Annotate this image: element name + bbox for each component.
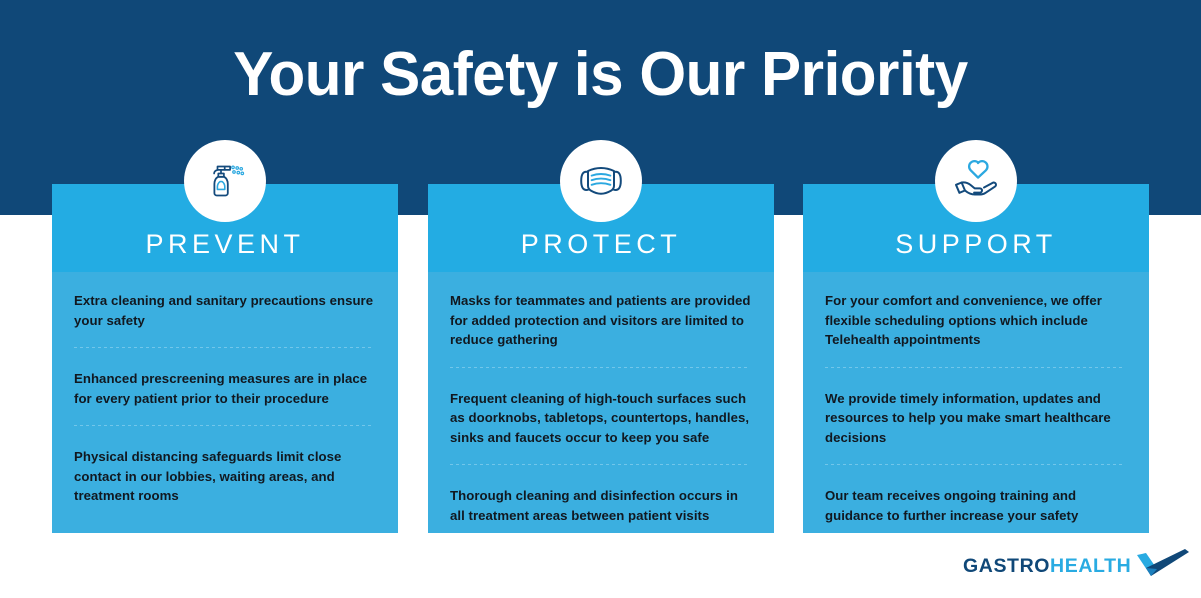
list-divider [450, 367, 750, 368]
hand-holding-heart-icon [951, 156, 1001, 206]
list-item: Physical distancing safeguards limit clo… [74, 442, 376, 506]
list-item: Thorough cleaning and disinfection occur… [450, 481, 752, 525]
list-item: Frequent cleaning of high-touch surfaces… [450, 384, 752, 448]
list-divider [450, 464, 750, 465]
info-card-protect: PROTECT Masks for teammates and patients… [428, 184, 774, 533]
list-item: We provide timely information, updates a… [825, 384, 1127, 448]
list-divider [74, 425, 374, 426]
logo-word-gastro: GASTRO [963, 555, 1050, 578]
card-title-protect: PROTECT [428, 229, 774, 259]
face-mask-icon [575, 155, 627, 207]
icon-badge-protect [560, 140, 642, 222]
checkmark-swoosh-icon [1137, 549, 1189, 584]
list-item: Enhanced prescreening measures are in pl… [74, 364, 376, 408]
info-card-support: SUPPORT For your comfort and convenience… [803, 184, 1149, 533]
list-item: Masks for teammates and patients are pro… [450, 286, 752, 350]
spray-bottle-icon [201, 157, 249, 205]
card-title-prevent: PREVENT [52, 229, 398, 259]
page-title: Your Safety is Our Priority [18, 38, 1183, 112]
logo-word-health: HEALTH [1050, 555, 1131, 578]
list-item: For your comfort and convenience, we off… [825, 286, 1127, 350]
list-divider [825, 367, 1125, 368]
icon-badge-support [935, 140, 1017, 222]
card-title-support: SUPPORT [803, 229, 1149, 259]
icon-badge-prevent [184, 140, 266, 222]
gastro-health-logo: GASTROHEALTH [963, 549, 1189, 583]
list-item: Extra cleaning and sanitary precautions … [74, 286, 376, 330]
list-item: Our team receives ongoing training and g… [825, 481, 1127, 525]
card-body-protect: Masks for teammates and patients are pro… [428, 272, 774, 533]
card-body-prevent: Extra cleaning and sanitary precautions … [52, 272, 398, 533]
list-divider [74, 347, 374, 348]
list-divider [825, 464, 1125, 465]
card-body-support: For your comfort and convenience, we off… [803, 272, 1149, 533]
safety-poster: Your Safety is Our Priority PREVENT Extr… [0, 0, 1201, 598]
info-card-prevent: PREVENT Extra cleaning and sanitary prec… [52, 184, 398, 533]
